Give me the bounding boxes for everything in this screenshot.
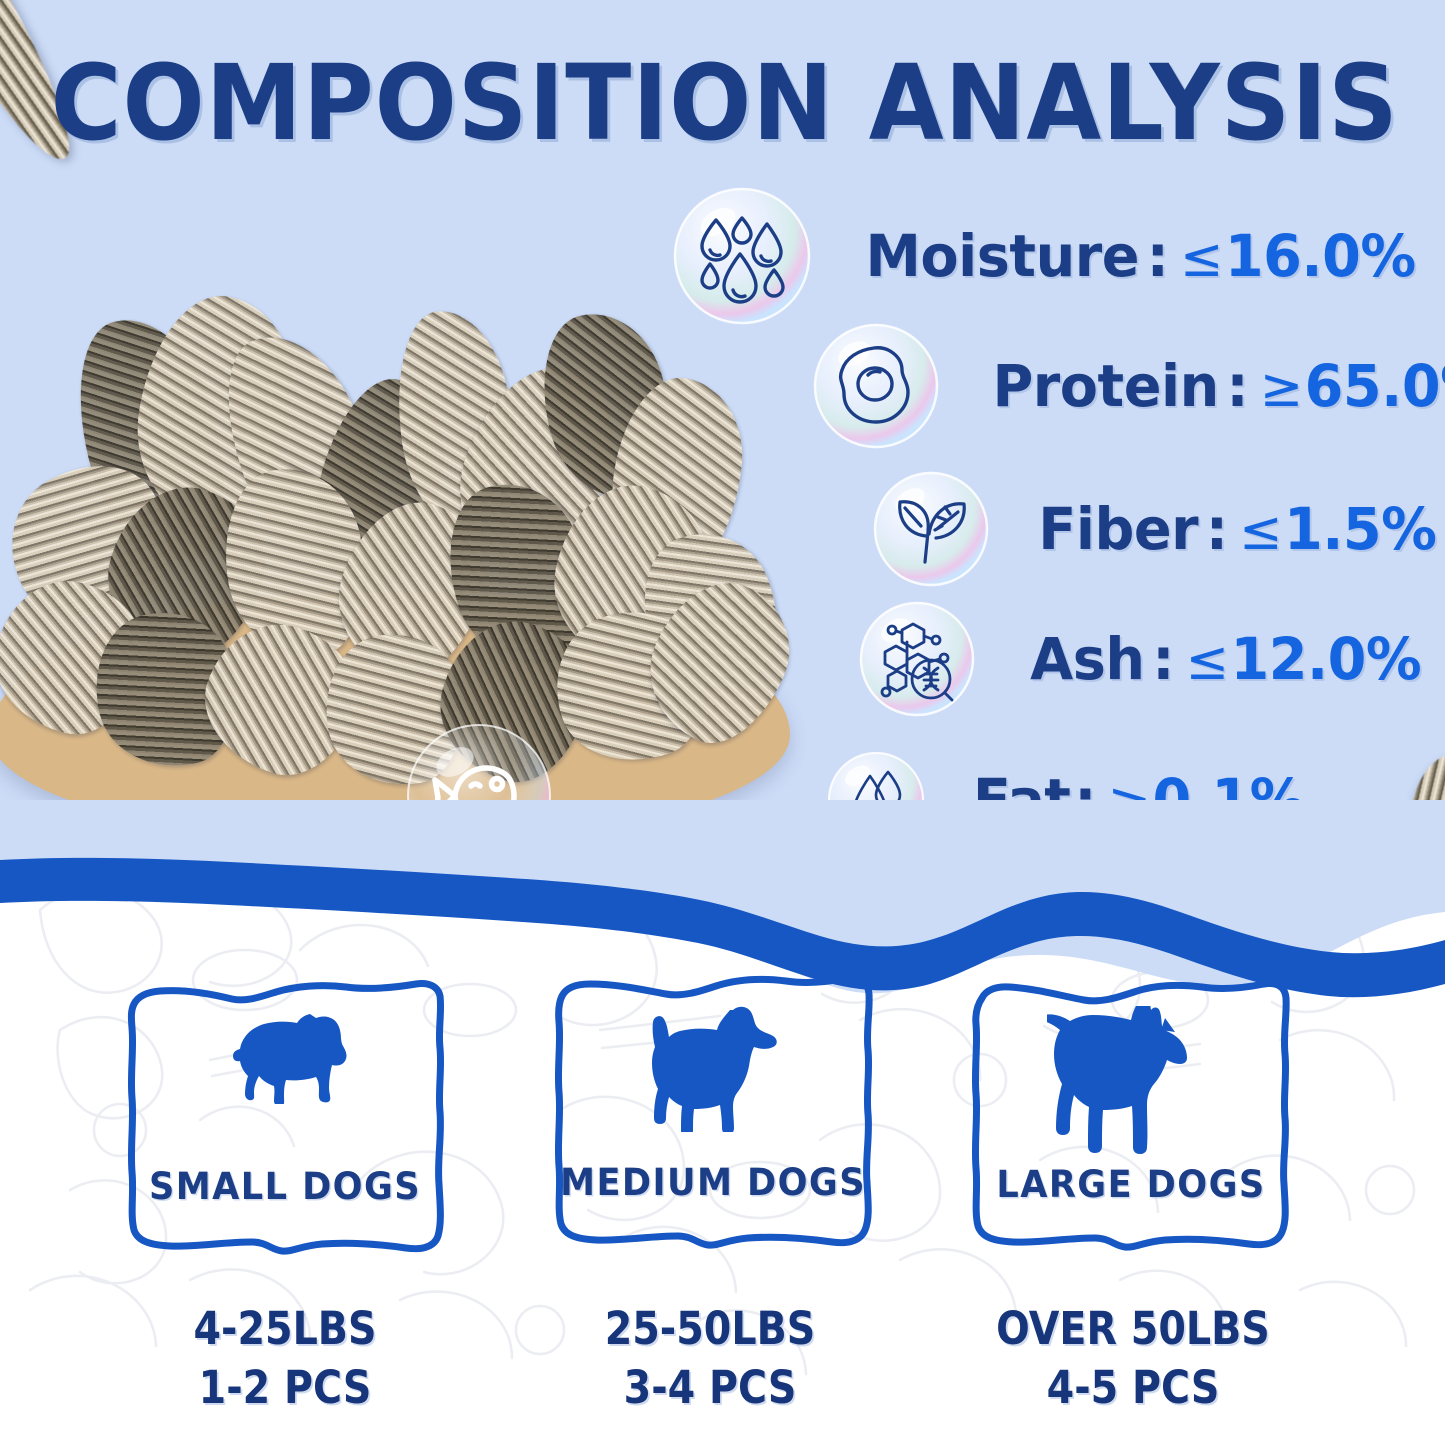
serving-info-medium: 25-50LBS 3-4 PCS [565,1300,855,1417]
nutrition-label: Moisture [865,222,1139,290]
nutrition-label: Fiber [1038,495,1198,563]
small-dog-icon [120,1008,450,1104]
feeding-card-large[interactable]: LARGE DOGS [966,968,1296,1258]
nutrition-operator: ≥ [1258,356,1305,419]
water-drops-icon [672,186,812,326]
molecule-dna-icon [858,600,976,718]
nutrition-row-moisture: Moisture:≤16.0% [672,186,1427,326]
medium-dog-icon [548,1004,878,1132]
egg-icon [812,322,940,450]
nutrition-value: 65.0% [1305,352,1445,420]
nutrition-separator: : [1219,352,1258,420]
card-label: MEDIUM DOGS [556,1161,870,1204]
nutrition-row-fiber: Fiber:≤1.5% [872,470,1445,588]
serving-weight: OVER 50LBS [988,1300,1278,1359]
feeding-card-small[interactable]: SMALL DOGS [120,970,450,1260]
nutrition-value: 16.0% [1225,222,1416,290]
infographic-page: COMPOSITION ANALYSIS [0,0,1445,1445]
nutrition-operator: ≤ [1178,226,1225,289]
nutrition-row-ash: Ash:≤12.0% [858,600,1429,718]
page-title: COMPOSITION ANALYSIS [51,42,1395,164]
nutrition-value: 12.0% [1230,625,1421,693]
nutrition-label: Ash [1030,625,1144,693]
nutrition-operator: ≤ [1184,629,1231,692]
serving-pieces: 1-2 PCS [140,1359,430,1418]
serving-info-small: 4-25LBS 1-2 PCS [140,1300,430,1417]
nutrition-label: Protein [992,352,1218,420]
feeding-card-medium[interactable]: MEDIUM DOGS [548,966,878,1256]
serving-pieces: 4-5 PCS [988,1359,1278,1418]
nutrition-row-protein: Protein:≥65.0% [812,322,1445,450]
nutrition-value: 1.5% [1284,495,1437,563]
serving-weight: 25-50LBS [565,1300,855,1359]
large-dog-icon [966,1006,1296,1158]
serving-info-large: OVER 50LBS 4-5 PCS [988,1300,1278,1417]
nutrition-operator: ≤ [1237,499,1284,562]
card-label: SMALL DOGS [128,1165,442,1208]
nutrition-separator: : [1139,222,1178,290]
leaf-sprout-icon [872,470,990,588]
nutrition-separator: : [1145,625,1184,693]
serving-weight: 4-25LBS [140,1300,430,1359]
serving-pieces: 3-4 PCS [565,1359,855,1418]
card-label: LARGE DOGS [974,1163,1288,1206]
nutrition-separator: : [1198,495,1237,563]
